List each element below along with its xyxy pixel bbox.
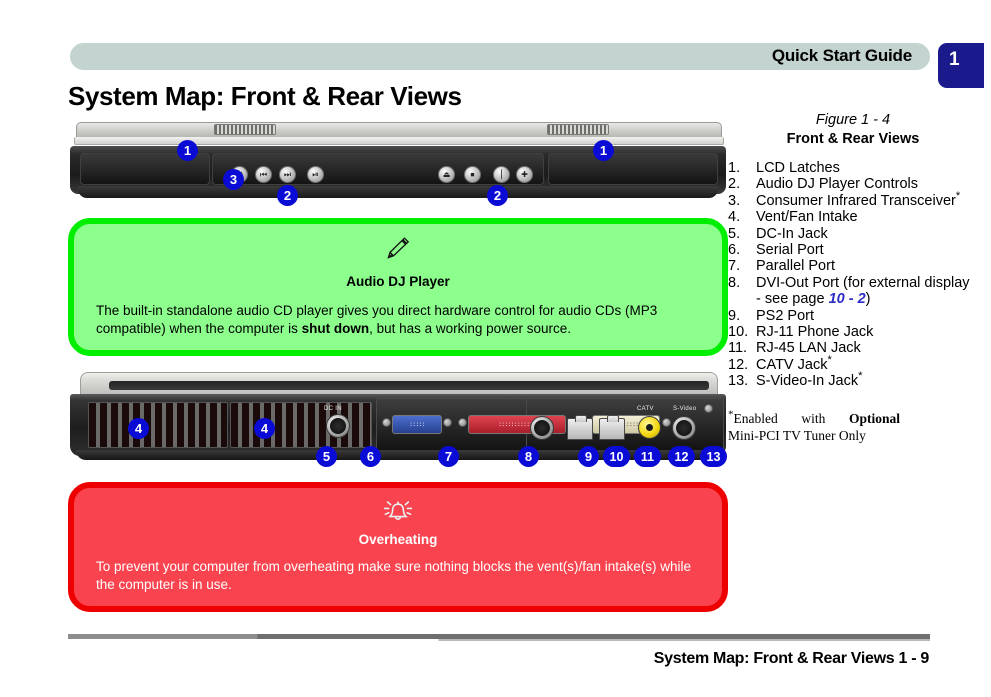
legend-label: Audio DJ Player Controls	[756, 176, 978, 192]
footnote-asterisk: *	[956, 190, 960, 202]
ps2-port	[530, 416, 554, 440]
dj-volume-down-button: ⎮	[493, 166, 510, 183]
list-item: 10. RJ-11 Phone Jack	[728, 324, 978, 340]
badge-rear-6: 6	[360, 446, 381, 467]
footer-rule-shadow	[68, 639, 930, 641]
list-item: 13. S-Video-In Jack*	[728, 373, 978, 389]
badge-front-2-left: 2	[277, 185, 298, 206]
list-item: 4. Vent/Fan Intake	[728, 209, 978, 225]
header-bar: Quick Start Guide	[70, 43, 930, 70]
minus-icon: ⎮	[494, 169, 509, 180]
front-panel-right	[548, 153, 718, 185]
note-callout: Audio DJ Player The built-in standalone …	[68, 218, 728, 356]
dj-playstop-button: ⏯	[307, 166, 324, 183]
figure-legend: 1. LCD Latches 2. Audio DJ Player Contro…	[728, 160, 978, 390]
list-item: 5. DC-In Jack	[728, 226, 978, 242]
lid-edge	[74, 137, 724, 145]
figure-title: Front & Rear Views	[728, 131, 978, 147]
badge-rear-12: 12	[668, 446, 695, 467]
note-body-post: , but has a working power source.	[369, 321, 571, 336]
legend-label: LCD Latches	[756, 160, 978, 176]
svideo-label: S-Video	[673, 406, 696, 412]
front-view-photo: VOLUME ⏻ ⏮ ⏭ ⏯ ⏏ ⏹ ⎮ ✚	[70, 122, 726, 212]
badge-rear-11: 11	[634, 446, 661, 467]
legend-number: 3.	[728, 193, 756, 209]
catv-label: CATV	[637, 406, 654, 412]
legend-number: 7.	[728, 258, 756, 274]
front-base-edge	[78, 186, 718, 198]
eject-icon: ⏏	[439, 169, 454, 180]
note-body: The built-in standalone audio CD player …	[96, 302, 700, 338]
legend-number: 2.	[728, 176, 756, 192]
legend-8-line3-post: )	[866, 291, 871, 307]
legend-label: DVI-Out Port (for external display - see…	[756, 275, 978, 308]
sidebar-footnote: *Enabled with Optional Mini-PCI TV Tuner…	[728, 410, 978, 444]
chapter-tab-number: 1	[949, 49, 960, 71]
badge-rear-4-right: 4	[254, 418, 275, 439]
note-body-bold: shut down	[302, 321, 370, 336]
legend-number: 6.	[728, 242, 756, 258]
rj11-notch	[575, 415, 587, 422]
footnote-enabled: *Enabled	[728, 410, 778, 427]
list-item: 7. Parallel Port	[728, 258, 978, 274]
catv-jack	[638, 416, 661, 439]
list-item: 9. PS2 Port	[728, 308, 978, 324]
legend-label: Serial Port	[756, 242, 978, 258]
footnote-asterisk: *	[827, 354, 831, 366]
badge-rear-5: 5	[316, 446, 337, 467]
ps2-hole	[534, 420, 550, 436]
rj45-lan-jack	[599, 418, 625, 440]
badge-front-2-right: 2	[487, 185, 508, 206]
page-reference-link[interactable]: 10 - 2	[829, 291, 866, 307]
legend-number: 11.	[728, 340, 756, 356]
front-panel-mid: VOLUME ⏻ ⏮ ⏭ ⏯ ⏏ ⏹ ⎮ ✚	[212, 153, 544, 185]
badge-front-1-left: 1	[177, 140, 198, 161]
legend-number: 1.	[728, 160, 756, 176]
list-item: 6. Serial Port	[728, 242, 978, 258]
figure-sidebar: Figure 1 - 4 Front & Rear Views 1. LCD L…	[728, 112, 978, 444]
badge-front-3: 3	[223, 169, 244, 190]
dj-eject-button: ⏏	[438, 166, 455, 183]
badge-rear-8: 8	[518, 446, 539, 467]
dj-next-button: ⏭	[279, 166, 296, 183]
footer-text: System Map: Front & Rear Views 1 - 9	[654, 650, 929, 668]
legend-8-line3-pre: see page	[765, 291, 829, 307]
warning-title: Overheating	[74, 532, 722, 547]
pen-icon	[74, 234, 722, 266]
footnote-line-2: Mini-PCI TV Tuner Only	[728, 427, 978, 444]
footnote-word-optional: Optional	[849, 410, 900, 427]
legend-number: 12.	[728, 357, 756, 373]
warning-callout: Overheating To prevent your computer fro…	[68, 482, 728, 612]
stop-icon: ⏹	[465, 169, 480, 180]
svideo-hole	[676, 420, 692, 436]
badge-rear-10: 10	[603, 446, 630, 467]
note-title: Audio DJ Player	[74, 274, 722, 289]
catv-pin	[646, 424, 653, 431]
s-video-in-jack	[672, 416, 696, 440]
figure-number: Figure 1 - 4	[728, 112, 978, 128]
legend-number: 9.	[728, 308, 756, 324]
chapter-tab: 1	[938, 43, 984, 88]
list-item: 8. DVI-Out Port (for external display - …	[728, 275, 978, 308]
list-item: 2. Audio DJ Player Controls	[728, 176, 978, 192]
badge-rear-7: 7	[438, 446, 459, 467]
list-item: 3. Consumer Infrared Transceiver*	[728, 193, 978, 209]
badge-rear-9: 9	[578, 446, 599, 467]
play-stop-icon: ⏯	[308, 169, 323, 180]
dj-prev-button: ⏮	[255, 166, 272, 183]
plus-icon: ✚	[517, 169, 532, 180]
prev-icon: ⏮	[256, 169, 271, 180]
list-item: 1. LCD Latches	[728, 160, 978, 176]
legend-label: RJ-45 LAN Jack	[756, 340, 978, 356]
legend-number: 5.	[728, 226, 756, 242]
legend-number: 10.	[728, 324, 756, 340]
list-item: 11. RJ-45 LAN Jack	[728, 340, 978, 356]
legend-label: S-Video-In Jack*	[756, 373, 978, 389]
legend-label: PS2 Port	[756, 308, 978, 324]
badge-front-1-right: 1	[593, 140, 614, 161]
legend-number: 8.	[728, 275, 756, 291]
legend-label: Parallel Port	[756, 258, 978, 274]
screw-rear-right	[704, 404, 713, 413]
legend-label: Vent/Fan Intake	[756, 209, 978, 225]
footnote-word-enabled: Enabled	[734, 411, 778, 426]
legend-label: CATV Jack*	[756, 357, 978, 373]
alarm-bell-icon	[74, 498, 722, 530]
list-item: 12. CATV Jack*	[728, 357, 978, 373]
legend-8-line1: DVI-Out Port (for	[756, 275, 865, 291]
footnote-line-1: *Enabled with Optional	[728, 410, 900, 427]
manual-page: Quick Start Guide 1 System Map: Front & …	[0, 0, 991, 697]
legend-number: 4.	[728, 209, 756, 225]
badge-rear-13: 13	[700, 446, 727, 467]
footnote-word-with: with	[801, 410, 825, 427]
dj-volume-up-button: ✚	[516, 166, 533, 183]
legend-label: DC-In Jack	[756, 226, 978, 242]
legend-label: RJ-11 Phone Jack	[756, 324, 978, 340]
rj11-phone-jack	[567, 418, 593, 440]
legend-label: Consumer Infrared Transceiver*	[756, 193, 978, 209]
badge-rear-4-left: 4	[128, 418, 149, 439]
next-icon: ⏭	[280, 169, 295, 180]
header-title: Quick Start Guide	[772, 46, 912, 66]
dj-stop-button: ⏹	[464, 166, 481, 183]
rj45-notch	[607, 415, 619, 422]
warning-body: To prevent your computer from overheatin…	[96, 558, 700, 594]
lcd-latch-left	[214, 124, 276, 135]
legend-number: 13.	[728, 373, 756, 389]
footnote-asterisk: *	[858, 370, 862, 382]
lcd-latch-right	[547, 124, 609, 135]
page-title: System Map: Front & Rear Views	[68, 81, 462, 112]
